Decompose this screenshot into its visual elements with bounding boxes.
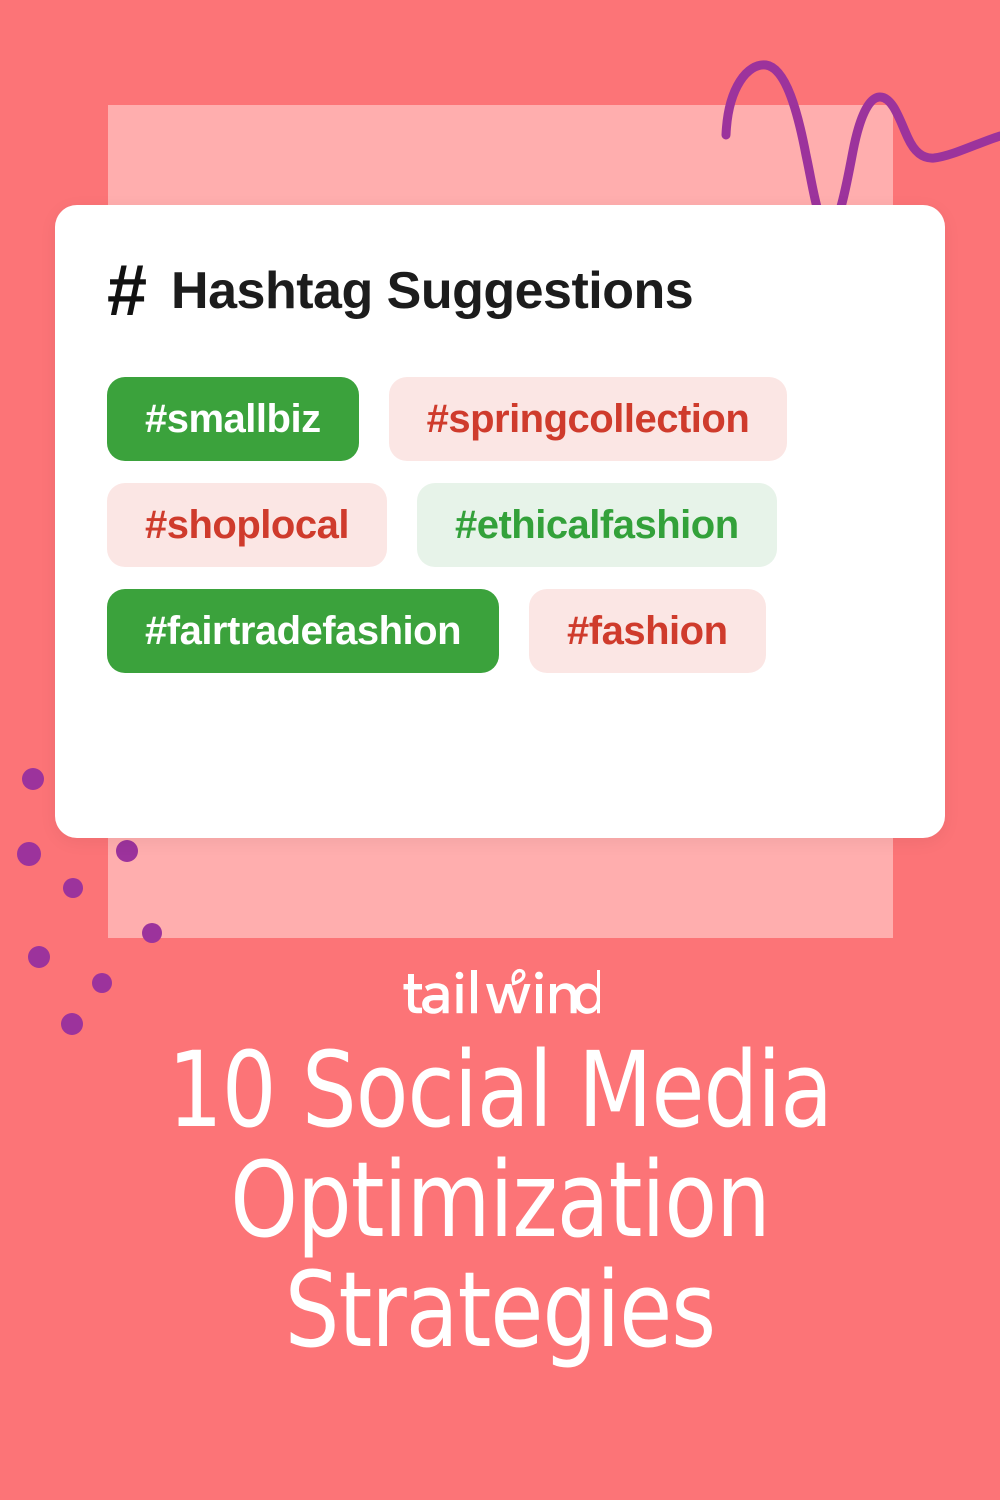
decorative-dot — [22, 768, 44, 790]
headline: 10 Social Media Optimization Strategies — [86, 1035, 914, 1366]
hash-icon: # — [107, 255, 145, 327]
card-header: # Hashtag Suggestions — [107, 255, 893, 327]
hashtag-pill-shoplocal[interactable]: #shoplocal — [107, 483, 387, 567]
tailwind-logo-icon — [400, 966, 600, 1018]
hashtag-row: #smallbiz #springcollection — [107, 377, 893, 461]
headline-line-3: Strategies — [86, 1255, 914, 1365]
hashtag-pill-springcollection[interactable]: #springcollection — [389, 377, 788, 461]
pin-canvas: # Hashtag Suggestions #smallbiz #springc… — [0, 0, 1000, 1500]
decorative-dot — [116, 840, 138, 862]
hashtag-pill-fashion[interactable]: #fashion — [529, 589, 765, 673]
page-title: Hashtag Suggestions — [171, 265, 693, 317]
brand-logo — [0, 966, 1000, 1026]
hashtag-suggestions-card: # Hashtag Suggestions #smallbiz #springc… — [55, 205, 945, 838]
headline-line-2: Optimization — [86, 1145, 914, 1255]
hashtag-pill-smallbiz[interactable]: #smallbiz — [107, 377, 359, 461]
hashtag-row: #fairtradefashion #fashion — [107, 589, 893, 673]
decorative-dot — [142, 923, 162, 943]
hashtag-pill-ethicalfashion[interactable]: #ethicalfashion — [417, 483, 777, 567]
decorative-dot — [28, 946, 50, 968]
hashtag-pill-fairtradefashion[interactable]: #fairtradefashion — [107, 589, 499, 673]
decorative-dot — [63, 878, 83, 898]
decorative-dot — [17, 842, 41, 866]
hashtag-row: #shoplocal #ethicalfashion — [107, 483, 893, 567]
hashtag-list: #smallbiz #springcollection #shoplocal #… — [107, 377, 893, 673]
headline-line-1: 10 Social Media — [86, 1035, 914, 1145]
